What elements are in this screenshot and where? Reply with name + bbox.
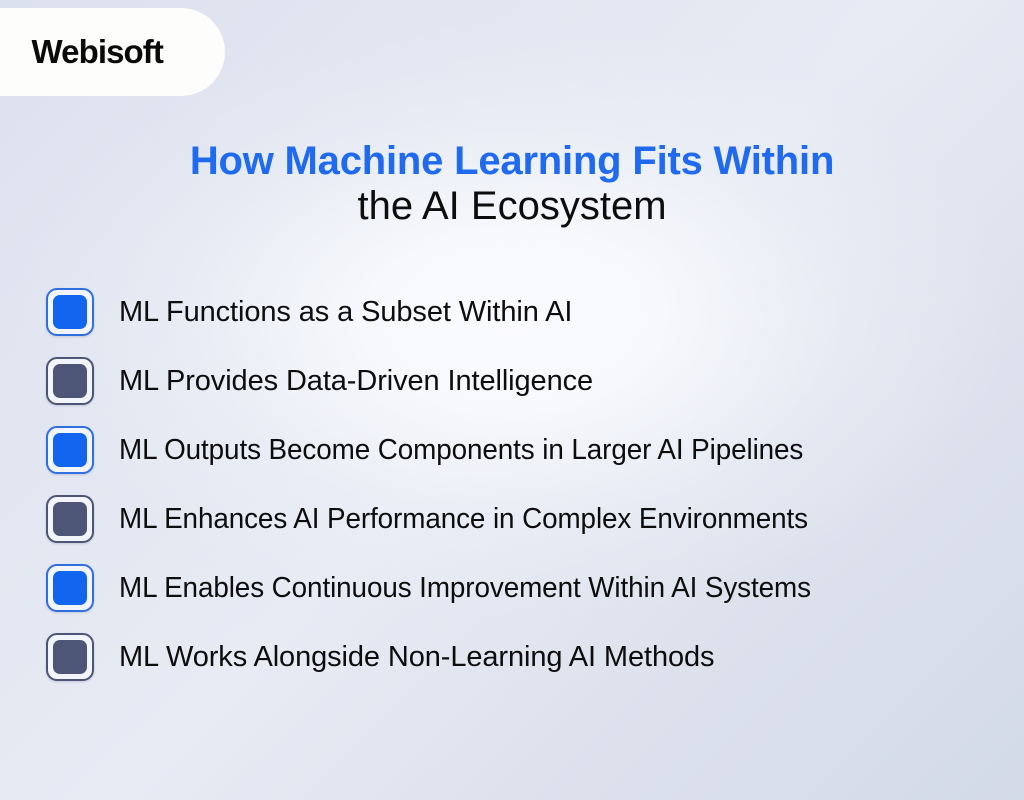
checkbox-fill-icon [53,640,87,674]
list-item-label: ML Provides Data-Driven Intelligence [119,365,593,398]
list-item-label: ML Enhances AI Performance in Complex En… [119,503,808,536]
checkbox-fill-icon [53,364,87,398]
list-item: ML Functions as a Subset Within AI [46,288,1006,336]
slide-canvas: Webisoft How Machine Learning Fits Withi… [0,0,1024,800]
checkbox-fill-icon [53,502,87,536]
list-item: ML Provides Data-Driven Intelligence [46,357,1006,405]
checkbox-icon[interactable] [46,357,94,405]
checkbox-icon[interactable] [46,633,94,681]
list-item: ML Enhances AI Performance in Complex En… [46,495,1006,543]
checkbox-fill-icon [53,571,87,605]
checkbox-icon[interactable] [46,495,94,543]
brand-name: Webisoft [31,33,163,71]
checkbox-icon[interactable] [46,426,94,474]
checkbox-fill-icon [53,295,87,329]
page-title: How Machine Learning Fits Within the AI … [0,140,1024,228]
list-item-label: ML Enables Continuous Improvement Within… [119,572,811,605]
checkbox-icon[interactable] [46,288,94,336]
page-title-line-1: How Machine Learning Fits Within [0,140,1024,182]
list-item: ML Works Alongside Non-Learning AI Metho… [46,633,1006,681]
list-item: ML Enables Continuous Improvement Within… [46,564,1006,612]
list-item-label: ML Outputs Become Components in Larger A… [119,434,803,467]
brand-logo-badge: Webisoft [0,8,225,96]
checkbox-icon[interactable] [46,564,94,612]
checkbox-fill-icon [53,433,87,467]
feature-list: ML Functions as a Subset Within AI ML Pr… [46,288,1006,702]
list-item-label: ML Works Alongside Non-Learning AI Metho… [119,641,714,674]
list-item-label: ML Functions as a Subset Within AI [119,296,572,329]
list-item: ML Outputs Become Components in Larger A… [46,426,1006,474]
page-title-line-2: the AI Ecosystem [0,185,1024,227]
